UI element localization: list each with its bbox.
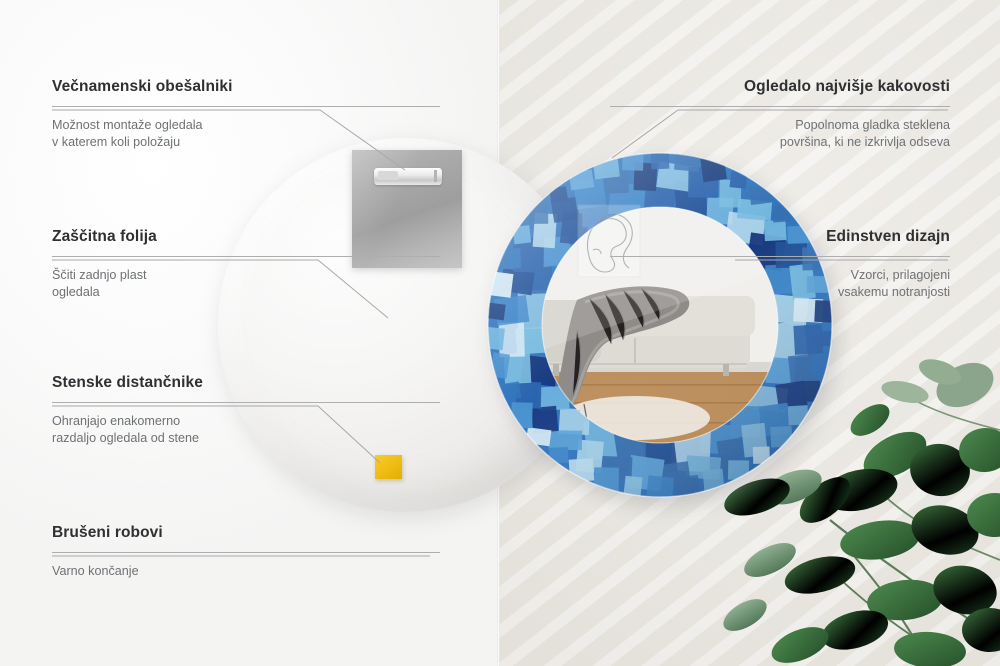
callout-desc-line2: v katerem koli položaju [52,134,440,152]
callout-title: Zaščitna folija [52,228,440,247]
callout-unique-design: Edinstven dizajn Vzorci, prilagojeni vsa… [610,228,950,302]
callout-title: Brušeni robovi [52,524,440,543]
callout-desc-line2: vsakemu notranjosti [610,284,950,302]
callout-rule [610,256,950,257]
callout-rule [610,106,950,107]
callout-desc-line1: Ohranjajo enakomerno [52,413,440,431]
round-mosaic-mirror [485,150,835,500]
callout-rule [52,402,440,403]
callout-desc-line2: razdaljo ogledala od stene [52,430,440,448]
callout-desc-line2: ogledala [52,284,440,302]
callout-polished-edges: Brušeni robovi Varno končanje [52,524,440,580]
callout-desc-line1: Varno končanje [52,563,440,581]
callout-title: Edinstven dizajn [610,228,950,247]
callout-desc-line2: površina, ki ne izkrivlja odseva [610,134,950,152]
callout-desc-line1: Popolnoma gladka steklena [610,117,950,135]
infographic-canvas: Večnamenski obešalniki Možnost montaže o… [0,0,1000,666]
callout-protective-film: Zaščitna folija Ščiti zadnjo plast ogled… [52,228,440,302]
callout-rule [52,552,440,553]
callout-desc-line1: Vzorci, prilagojeni [610,267,950,285]
wall-spacer-swatch [375,455,402,479]
callout-rule [52,106,440,107]
hanger-bracket-icon [374,168,442,185]
callout-hangers: Večnamenski obešalniki Možnost montaže o… [52,78,440,152]
callout-title: Ogledalo najvišje kakovosti [610,78,950,97]
callout-desc-line1: Možnost montaže ogledala [52,117,440,135]
callout-rule [52,256,440,257]
callout-desc-line1: Ščiti zadnjo plast [52,267,440,285]
callout-title: Večnamenski obešalniki [52,78,440,97]
callout-wall-spacers: Stenske distančnike Ohranjajo enakomerno… [52,374,440,448]
callout-title: Stenske distančnike [52,374,440,393]
callout-top-quality-mirror: Ogledalo najvišje kakovosti Popolnoma gl… [610,78,950,152]
